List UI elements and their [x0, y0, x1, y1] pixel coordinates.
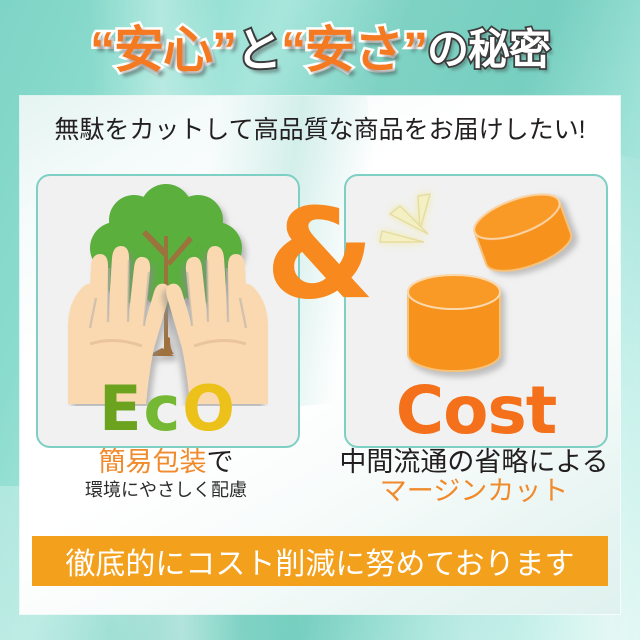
- caption-cost-highlight: マージンカット: [334, 477, 614, 506]
- headline-part-anshin: 安心: [114, 25, 212, 75]
- eco-letter-e: E: [99, 372, 143, 445]
- ampersand-separator: &: [272, 174, 368, 334]
- card-captions: 簡易包装で 環境にやさしく配慮 中間流通の省略による マージンカット: [20, 448, 620, 524]
- headline-quote-open-1: “: [90, 25, 114, 75]
- cost-illustration-svg: [346, 176, 606, 396]
- caption-eco-secondary: 環境にやさしく配慮: [26, 479, 306, 502]
- headline-part-yasusa: 安さ: [305, 25, 403, 75]
- headline-conjunction: と: [236, 27, 281, 73]
- card-cost[interactable]: Cost: [344, 174, 608, 448]
- headline-quote-open-2: “: [281, 25, 305, 75]
- caption-cost: 中間流通の省略による マージンカット: [334, 448, 614, 506]
- content-panel: 無駄をカットして高品質な商品をお届けしたい!: [20, 96, 620, 614]
- headline-quote-close-1: ”: [212, 25, 236, 75]
- eco-letter-c: c: [143, 372, 182, 445]
- headline-quote-close-2: ”: [403, 25, 427, 75]
- subtitle: 無駄をカットして高品質な商品をお届けしたい!: [20, 110, 620, 146]
- caption-eco-primary: 簡易包装で: [26, 448, 306, 477]
- caption-cost-primary: 中間流通の省略による: [334, 448, 614, 477]
- headline-tail-himitsu: の秘密: [427, 29, 550, 71]
- caption-eco: 簡易包装で 環境にやさしく配慮: [26, 448, 306, 502]
- cost-label: Cost: [346, 378, 606, 444]
- bottom-banner-text: 徹底的にコスト削減に努めております: [65, 539, 574, 583]
- caption-eco-rest: で: [207, 447, 234, 477]
- eco-letter-o: O: [182, 372, 237, 445]
- bottom-banner: 徹底的にコスト削減に努めております: [32, 536, 608, 586]
- can-body: [408, 275, 500, 371]
- headline: “安心”と“安さ”の秘密: [0, 8, 640, 92]
- can-lid: [469, 185, 577, 280]
- eco-label: EcO: [38, 378, 298, 440]
- promotional-poster: “安心”と“安さ”の秘密 無駄をカットして高品質な商品をお届けしたい!: [0, 0, 640, 640]
- card-eco[interactable]: EcO: [36, 174, 300, 448]
- caption-eco-highlight: 簡易包装: [99, 447, 207, 477]
- sparkle-marks: [380, 194, 430, 242]
